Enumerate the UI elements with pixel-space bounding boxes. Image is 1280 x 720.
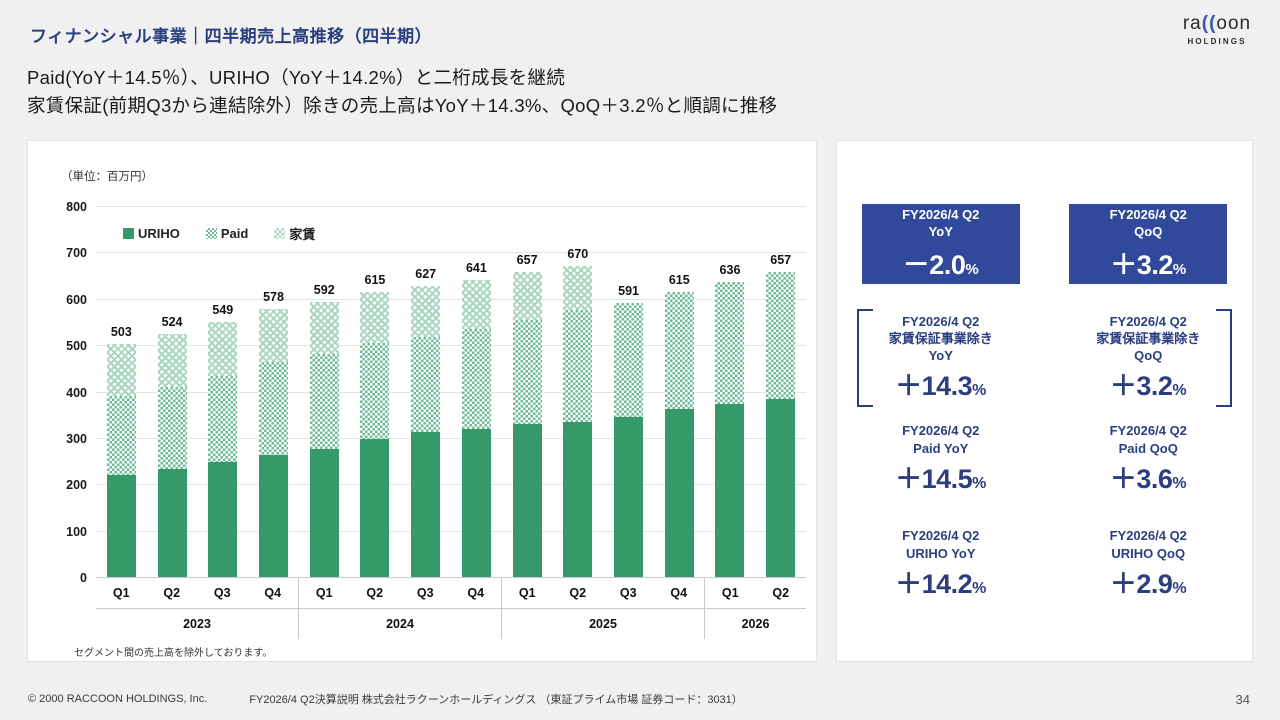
bar-stack[interactable]: 592: [310, 302, 339, 577]
page-number: 34: [1236, 692, 1250, 707]
bar-total-label: 615: [669, 273, 690, 287]
metric-label-paid-qoq: FY2026/4 Q2 Paid QoQ: [1110, 422, 1187, 456]
bar-slot: 591: [603, 206, 654, 577]
bar-stack[interactable]: 549: [208, 322, 237, 577]
bar-total-label: 549: [212, 303, 233, 317]
metric-number-yoy: 2.0: [929, 250, 965, 281]
logo-subtext: HOLDINGS: [1171, 37, 1263, 46]
x-axis-quarter-label: Q3: [400, 578, 451, 608]
bar-segment-paid: [563, 310, 592, 421]
x-axis-year-group: Q1Q2Q3Q42024: [299, 578, 502, 639]
bar-segment-uriho: [766, 399, 795, 577]
bar-segment-uriho: [158, 469, 187, 577]
metrics-row-uriho: FY2026/4 Q2 URIHO YoY ＋14.2% FY2026/4 Q2…: [837, 524, 1252, 604]
y-axis-tick-label: 400: [66, 386, 87, 400]
metric-label-uriho-yoy: FY2026/4 Q2 URIHO YoY: [902, 527, 979, 561]
metrics-card: FY2026/4 Q2 YoY －2.0% FY2026/4 Q2 QoQ ＋3…: [836, 140, 1253, 662]
bar-segment-uriho: [513, 424, 542, 577]
bar-segment-rent: [462, 280, 491, 329]
x-axis-year-group: Q1Q2Q3Q42025: [502, 578, 705, 639]
x-axis-quarter-label: Q1: [502, 578, 553, 608]
metric-label-uriho-qoq: FY2026/4 Q2 URIHO QoQ: [1110, 527, 1187, 561]
bar-total-label: 615: [365, 273, 386, 287]
bar-segment-uriho: [107, 475, 136, 577]
bar-stack[interactable]: 578: [259, 309, 288, 577]
chart-footnote: セグメント間の売上高を除外しております。: [74, 644, 272, 659]
bar-total-label: 636: [720, 263, 741, 277]
bar-slot: 657: [755, 206, 806, 577]
bar-segment-rent: [563, 266, 592, 310]
y-axis-tick-label: 800: [66, 200, 87, 214]
metric-label-exrent-qoq: FY2026/4 Q2 家賃保証事業除き QoQ: [1096, 313, 1200, 364]
chart-unit-label: （単位：百万円）: [61, 168, 153, 184]
bar-segment-uriho: [665, 409, 694, 577]
bar-segment-paid: [107, 396, 136, 475]
metric-unit-uriho-yoy: %: [972, 580, 986, 598]
bar-segment-paid: [208, 376, 237, 462]
bar-stack[interactable]: 615: [665, 292, 694, 577]
bar-slot: 503: [96, 206, 147, 577]
metric-sign-paid-yoy: ＋: [895, 457, 922, 496]
metric-cell-uriho-yoy: FY2026/4 Q2 URIHO YoY ＋14.2%: [837, 524, 1045, 604]
bar-slot: 657: [502, 206, 553, 577]
metric-cell-yoy: FY2026/4 Q2 YoY －2.0%: [837, 204, 1045, 284]
metric-cell-uriho-qoq: FY2026/4 Q2 URIHO QoQ ＋2.9%: [1045, 524, 1253, 604]
chart-card: （単位：百万円） URIHO Paid 家賃 80070060050040030…: [27, 140, 817, 662]
bar-stack[interactable]: 636: [715, 282, 744, 577]
x-axis-quarter-label: Q1: [96, 578, 147, 608]
x-axis-quarter-label: Q3: [197, 578, 248, 608]
metric-sign-exrent-qoq: ＋: [1110, 364, 1137, 403]
metric-value-paid-yoy: ＋14.5%: [895, 457, 986, 496]
x-axis-year-label: 2023: [96, 608, 298, 639]
bar-total-label: 670: [567, 247, 588, 261]
bar-segment-paid: [766, 272, 795, 399]
x-axis-year-label: 2024: [299, 608, 501, 639]
bar-stack[interactable]: 627: [411, 286, 440, 577]
bar-slot: 636: [705, 206, 756, 577]
bar-segment-paid: [513, 320, 542, 424]
subtitle-line-2: 家賃保証(前期Q3から連結除外）除きの売上高はYoY＋14.3%、QoQ＋3.2…: [27, 92, 777, 120]
logo-text-right: oon: [1216, 13, 1251, 34]
y-axis-tick-label: 500: [66, 339, 87, 353]
bar-slot: 615: [654, 206, 705, 577]
footer-description: FY2026/4 Q2決算説明 株式会社ラクーンホールディングス （東証プライム…: [249, 691, 743, 707]
metric-unit-yoy: %: [965, 261, 978, 278]
metric-number-paid-yoy: 14.5: [922, 464, 973, 495]
x-axis-quarter-label: Q1: [299, 578, 350, 608]
x-axis-year-group: Q1Q2Q3Q42023: [96, 578, 299, 639]
bar-segment-uriho: [411, 432, 440, 577]
metric-number-uriho-yoy: 14.2: [922, 569, 973, 600]
bar-segment-uriho: [462, 429, 491, 577]
bar-segment-rent: [107, 344, 136, 396]
metric-sign-uriho-yoy: ＋: [895, 562, 922, 601]
metric-sign-exrent-yoy: ＋: [895, 364, 922, 403]
metric-cell-paid-qoq: FY2026/4 Q2 Paid QoQ ＋3.6%: [1045, 419, 1253, 499]
x-axis-quarter-label: Q4: [654, 578, 705, 608]
metric-cell-exrent-qoq: FY2026/4 Q2 家賃保証事業除き QoQ ＋3.2%: [1045, 309, 1253, 407]
bar-segment-uriho: [563, 422, 592, 577]
bar-segment-uriho: [259, 455, 288, 577]
metric-unit-exrent-qoq: %: [1172, 382, 1186, 400]
metric-label-yoy: FY2026/4 Q2 YoY: [902, 206, 979, 240]
bar-slot: 524: [147, 206, 198, 577]
metrics-row-ex-rent: FY2026/4 Q2 家賃保証事業除き YoY ＋14.3% FY2026/4…: [837, 309, 1252, 407]
metric-sign-paid-qoq: ＋: [1110, 457, 1137, 496]
metric-sign-yoy: －: [903, 243, 930, 282]
bar-segment-uriho: [614, 417, 643, 577]
metric-sign-uriho-qoq: ＋: [1110, 562, 1137, 601]
x-axis-quarter-label: Q4: [451, 578, 502, 608]
subtitle-block: Paid(YoY＋14.5％）、URIHO（YoY＋14.2%）と二桁成長を継続…: [27, 64, 777, 120]
bar-segment-rent: [360, 292, 389, 343]
bar-segment-uriho: [360, 439, 389, 577]
y-axis-tick-label: 600: [66, 293, 87, 307]
bar-stack[interactable]: 503: [107, 344, 136, 577]
x-axis-quarter-label: Q1: [705, 578, 756, 608]
footer-copyright: © 2000 RACCOON HOLDINGS, Inc.: [28, 693, 207, 705]
subtitle-line-1: Paid(YoY＋14.5％）、URIHO（YoY＋14.2%）と二桁成長を継続: [27, 64, 777, 92]
metric-number-paid-qoq: 3.6: [1136, 464, 1172, 495]
metric-sign-qoq: ＋: [1110, 243, 1137, 282]
metric-unit-paid-qoq: %: [1172, 475, 1186, 493]
metric-unit-qoq: %: [1173, 261, 1186, 278]
bar-total-label: 503: [111, 325, 132, 339]
metric-unit-exrent-yoy: %: [972, 382, 986, 400]
bar-total-label: 657: [770, 253, 791, 267]
x-axis-year-group: Q1Q22026: [705, 578, 806, 639]
bar-stack[interactable]: 657: [513, 272, 542, 577]
y-axis-tick-label: 300: [66, 432, 87, 446]
metric-label-exrent-yoy: FY2026/4 Q2 家賃保証事業除き YoY: [889, 313, 993, 364]
y-axis-tick-label: 700: [66, 246, 87, 260]
company-logo: ra((oon HOLDINGS: [1171, 14, 1263, 46]
chart-plot-area: 8007006005004003002001000 50352454957859…: [96, 206, 806, 577]
metric-cell-paid-yoy: FY2026/4 Q2 Paid YoY ＋14.5%: [837, 419, 1045, 499]
metric-value-uriho-yoy: ＋14.2%: [895, 562, 986, 601]
x-axis-quarter-label: Q2: [350, 578, 401, 608]
bar-stack[interactable]: 615: [360, 292, 389, 577]
x-axis-quarter-label: Q2: [147, 578, 198, 608]
metrics-row-headline: FY2026/4 Q2 YoY －2.0% FY2026/4 Q2 QoQ ＋3…: [837, 204, 1252, 284]
bar-slot: 578: [248, 206, 299, 577]
bar-segment-rent: [411, 286, 440, 337]
bar-segment-uriho: [715, 404, 744, 577]
bar-segment-paid: [259, 362, 288, 455]
logo-paren-icon: ((: [1202, 13, 1217, 34]
y-axis-tick-label: 100: [66, 525, 87, 539]
bar-segment-paid: [665, 292, 694, 409]
metric-unit-uriho-qoq: %: [1172, 580, 1186, 598]
logo-wordmark: ra((oon: [1171, 14, 1263, 33]
bar-stack[interactable]: 670: [563, 266, 592, 577]
bar-total-label: 657: [517, 253, 538, 267]
bar-slot: 615: [350, 206, 401, 577]
chart-bars: 5035245495785926156276416576705916156366…: [96, 206, 806, 577]
x-axis-quarter-label: Q2: [553, 578, 604, 608]
bar-segment-paid: [360, 343, 389, 439]
bar-slot: 627: [400, 206, 451, 577]
metric-value-qoq: ＋3.2%: [1110, 243, 1186, 282]
metric-cell-qoq: FY2026/4 Q2 QoQ ＋3.2%: [1045, 204, 1253, 284]
bar-total-label: 641: [466, 261, 487, 275]
bar-slot: 549: [197, 206, 248, 577]
bar-total-label: 627: [415, 267, 436, 281]
bar-segment-rent: [208, 322, 237, 376]
metric-box-qoq: FY2026/4 Q2 QoQ ＋3.2%: [1069, 204, 1227, 284]
bar-total-label: 592: [314, 283, 335, 297]
bar-segment-rent: [158, 334, 187, 387]
bar-stack[interactable]: 657: [766, 272, 795, 577]
x-axis-quarter-label: Q3: [603, 578, 654, 608]
bar-segment-paid: [614, 303, 643, 417]
metric-unit-paid-yoy: %: [972, 475, 986, 493]
bar-stack[interactable]: 641: [462, 280, 491, 577]
metric-value-paid-qoq: ＋3.6%: [1110, 457, 1187, 496]
metric-value-exrent-qoq: ＋3.2%: [1110, 364, 1187, 403]
metrics-row-paid: FY2026/4 Q2 Paid YoY ＋14.5% FY2026/4 Q2 …: [837, 419, 1252, 499]
x-axis-quarter-label: Q2: [756, 578, 807, 608]
logo-text-left: ra: [1183, 13, 1202, 34]
bar-segment-paid: [715, 282, 744, 404]
bar-segment-rent: [310, 302, 339, 353]
bar-segment-paid: [462, 329, 491, 429]
metric-number-qoq: 3.2: [1137, 250, 1173, 281]
x-axis-year-label: 2026: [705, 608, 806, 639]
slide-footer: © 2000 RACCOON HOLDINGS, Inc. FY2026/4 Q…: [0, 678, 1280, 720]
metric-number-exrent-qoq: 3.2: [1136, 371, 1172, 402]
y-axis-tick-label: 200: [66, 478, 87, 492]
x-axis-year-label: 2025: [502, 608, 704, 639]
bar-slot: 641: [451, 206, 502, 577]
bar-stack[interactable]: 591: [614, 303, 643, 577]
metric-number-exrent-yoy: 14.3: [922, 371, 973, 402]
bar-segment-paid: [310, 354, 339, 449]
bar-total-label: 591: [618, 284, 639, 298]
bar-segment-uriho: [310, 449, 339, 577]
metric-box-yoy: FY2026/4 Q2 YoY －2.0%: [862, 204, 1020, 284]
x-axis-quarter-label: Q4: [248, 578, 299, 608]
bar-segment-rent: [259, 309, 288, 362]
page-title: フィナンシャル事業｜四半期売上高推移（四半期）: [30, 22, 432, 47]
bar-slot: 670: [552, 206, 603, 577]
bar-segment-uriho: [208, 462, 237, 577]
bar-total-label: 524: [162, 315, 183, 329]
bar-segment-rent: [513, 272, 542, 319]
bar-stack[interactable]: 524: [158, 334, 187, 577]
metric-label-paid-yoy: FY2026/4 Q2 Paid YoY: [902, 422, 979, 456]
bar-segment-paid: [411, 337, 440, 432]
bar-slot: 592: [299, 206, 350, 577]
y-axis-tick-label: 0: [80, 571, 87, 585]
chart-x-axis: Q1Q2Q3Q42023Q1Q2Q3Q42024Q1Q2Q3Q42025Q1Q2…: [96, 577, 806, 639]
metric-cell-exrent-yoy: FY2026/4 Q2 家賃保証事業除き YoY ＋14.3%: [837, 309, 1045, 407]
metric-label-qoq: FY2026/4 Q2 QoQ: [1110, 206, 1187, 240]
metric-value-uriho-qoq: ＋2.9%: [1110, 562, 1187, 601]
metric-number-uriho-qoq: 2.9: [1136, 569, 1172, 600]
bar-total-label: 578: [263, 290, 284, 304]
bar-segment-paid: [158, 387, 187, 470]
metric-value-yoy: －2.0%: [903, 243, 979, 282]
metric-value-exrent-yoy: ＋14.3%: [895, 364, 986, 403]
